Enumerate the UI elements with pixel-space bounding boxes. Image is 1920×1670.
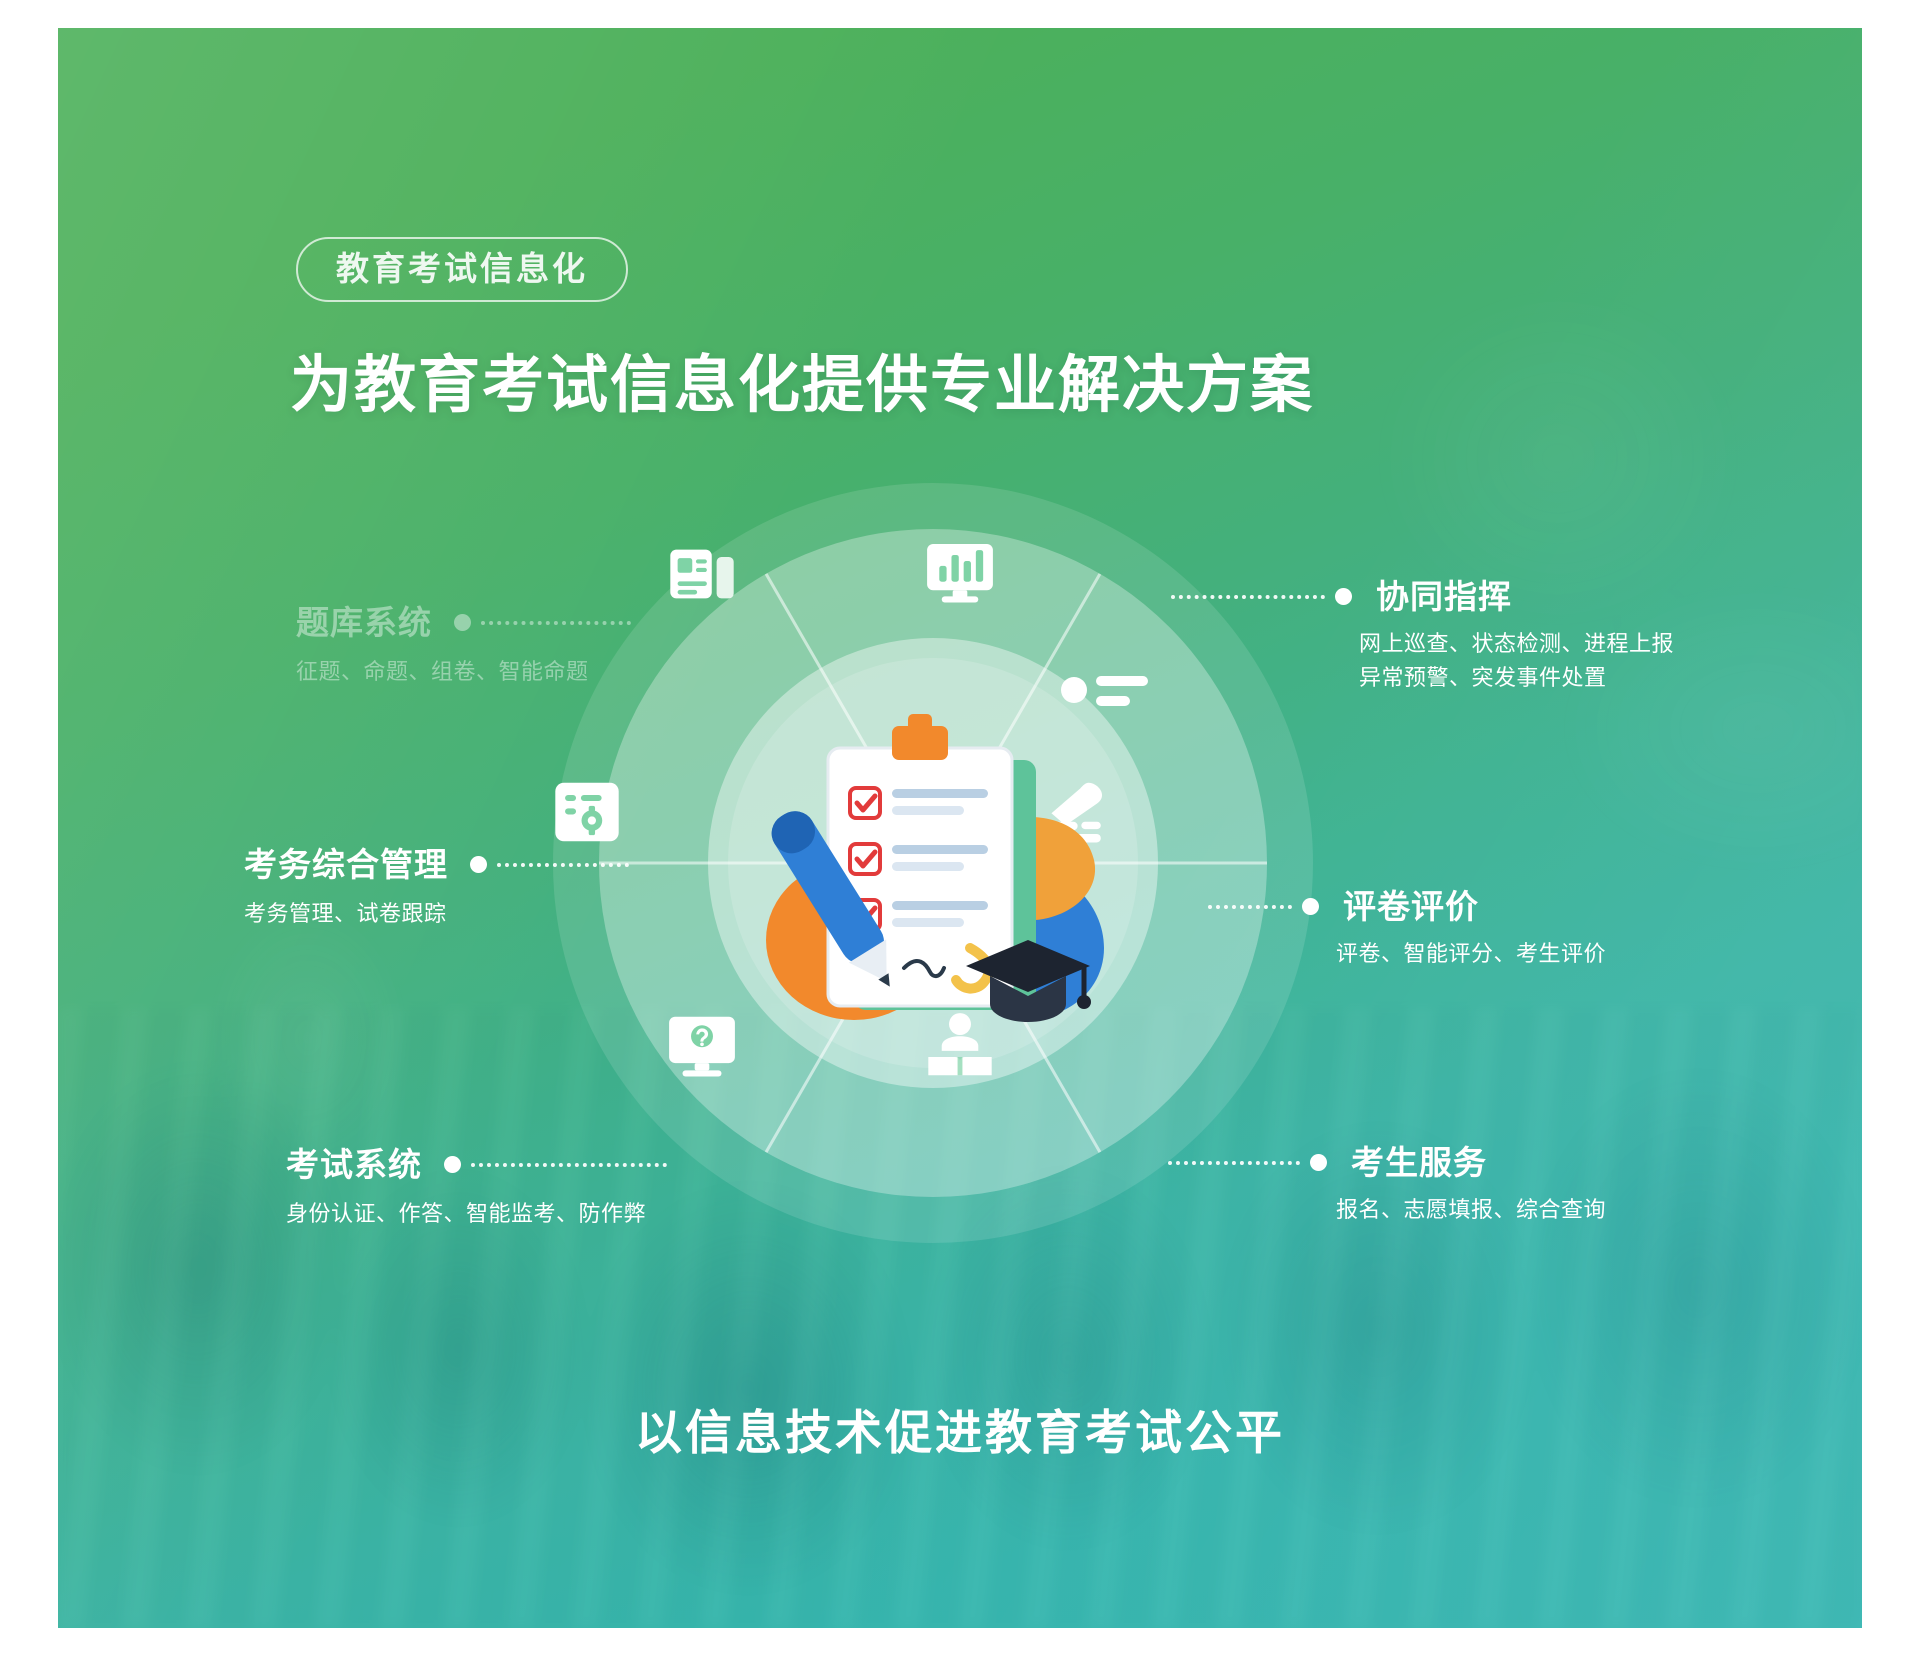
callout-kaosheng-row: 考生服务 [1168, 1146, 1606, 1179]
banner-tagline: 以信息技术促进教育考试公平 [58, 1394, 1862, 1463]
callout-xietong-desc: 网上巡查、状态检测、进程上报 异常预警、突发事件处置 [1359, 627, 1674, 695]
page-title: 为教育考试信息化提供专业解决方案 [290, 350, 1314, 421]
connector-dot-icon [1302, 898, 1319, 915]
connector-line [1171, 595, 1325, 599]
connector-line [1168, 1161, 1300, 1165]
connector-line [471, 1163, 667, 1167]
callout-pingjuan[interactable]: 评卷评价 评卷、智能评分、考生评价 [1208, 890, 1606, 971]
callout-kaoshi-row: 考试系统 [286, 1148, 667, 1181]
callout-kaoshi-title: 考试系统 [286, 1148, 422, 1181]
banner-stage: 教育考试信息化 为教育考试信息化提供专业解决方案 [0, 0, 1920, 1670]
callout-tiku[interactable]: 题库系统 征题、命题、组卷、智能命题 [296, 606, 631, 689]
bar-chart-screen-icon[interactable] [921, 533, 999, 611]
callout-tiku-title: 题库系统 [296, 606, 432, 639]
connector-dot-icon [454, 614, 471, 631]
callout-kaowu-row: 考务综合管理 [244, 848, 629, 881]
callout-kaoshi[interactable]: 考试系统 身份认证、作答、智能监考、防作弊 [286, 1148, 667, 1231]
clipboard-checklist-illustration [708, 648, 1158, 1078]
callout-kaosheng-title: 考生服务 [1351, 1146, 1487, 1179]
connector-line [481, 621, 631, 625]
category-badge: 教育考试信息化 [296, 237, 628, 302]
connector-dot-icon [444, 1156, 461, 1173]
callout-xietong-title: 协同指挥 [1376, 580, 1512, 613]
callout-xietong[interactable]: 协同指挥 网上巡查、状态检测、进程上报 异常预警、突发事件处置 [1171, 580, 1674, 695]
connector-line [497, 863, 629, 867]
callout-kaowu[interactable]: 考务综合管理 考务管理、试卷跟踪 [244, 848, 629, 931]
solution-banner: 教育考试信息化 为教育考试信息化提供专业解决方案 [58, 28, 1862, 1628]
callout-kaoshi-desc: 身份认证、作答、智能监考、防作弊 [286, 1197, 667, 1231]
callout-xietong-row: 协同指挥 [1171, 580, 1674, 613]
connector-dot-icon [1310, 1154, 1327, 1171]
question-bank-icon[interactable] [663, 535, 741, 613]
callout-kaosheng-desc: 报名、志愿填报、综合查询 [1336, 1193, 1606, 1227]
callout-pingjuan-desc: 评卷、智能评分、考生评价 [1336, 937, 1606, 971]
connector-dot-icon [1335, 588, 1352, 605]
callout-kaosheng[interactable]: 考生服务 报名、志愿填报、综合查询 [1168, 1146, 1606, 1227]
connector-dot-icon [470, 856, 487, 873]
callout-tiku-desc: 征题、命题、组卷、智能命题 [296, 655, 631, 689]
connector-line [1208, 905, 1292, 909]
callout-tiku-row: 题库系统 [296, 606, 631, 639]
callout-kaowu-desc: 考务管理、试卷跟踪 [244, 897, 629, 931]
callout-pingjuan-row: 评卷评价 [1208, 890, 1606, 923]
settings-form-icon[interactable] [548, 773, 626, 851]
callout-pingjuan-title: 评卷评价 [1343, 890, 1479, 923]
callout-kaowu-title: 考务综合管理 [244, 848, 448, 881]
